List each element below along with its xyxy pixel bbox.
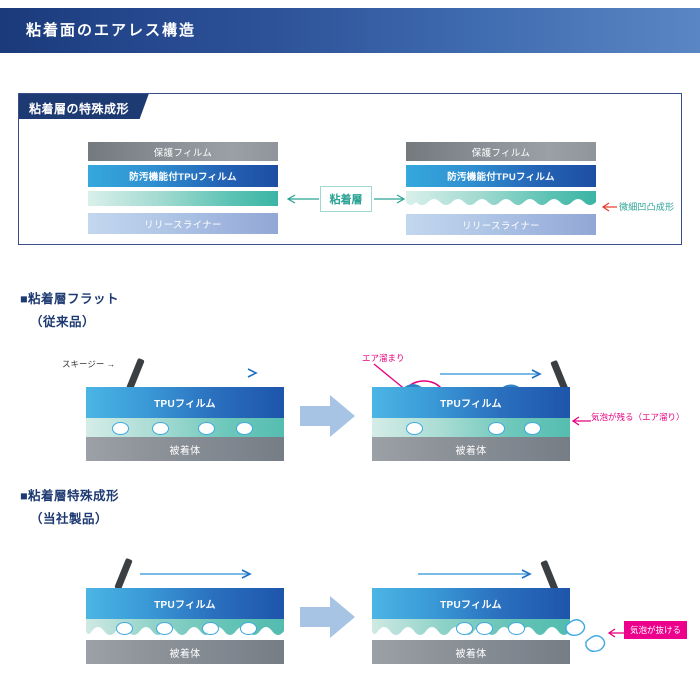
panel-tab-label: 粘着層の特殊成形: [29, 100, 129, 117]
process-arrow-1-icon: [300, 393, 356, 439]
layer-label: 保護フィルム: [154, 145, 212, 159]
layer-label: リリースライナー: [144, 217, 222, 231]
layer-tpu-film: 防汚機能付TPUフィルム: [406, 165, 596, 187]
tpu-film-layer: TPUフィルム: [86, 588, 284, 619]
air-bubble: [524, 422, 541, 435]
layer-label: リリースライナー: [462, 218, 540, 232]
trapped-bubble-arrow-icon: [570, 416, 592, 426]
diagram-1-right-stack: TPUフィルム 被着体: [372, 387, 570, 461]
substrate-label: 被着体: [456, 442, 487, 457]
diagram-1-left-stack: TPUフィルム 被着体: [86, 387, 284, 461]
layer-label: 防汚機能付TPUフィルム: [447, 169, 555, 183]
squeegee-blade-icon: [126, 358, 144, 390]
panel-tab-notch-shape: [138, 94, 161, 119]
substrate-layer: 被着体: [86, 437, 284, 461]
micro-texture-arrow-icon: [600, 202, 618, 212]
air-bubble: [476, 622, 493, 635]
callout-arrow-left: [286, 192, 320, 206]
tpu-film-label: TPUフィルム: [154, 395, 216, 410]
section-1-subheading: （従来品）: [30, 311, 95, 330]
application-direction-arrow: [140, 568, 258, 580]
tpu-film-layer: TPUフィルム: [372, 588, 570, 619]
air-bubble: [508, 622, 525, 635]
escaping-bubble-arrow-icon: [606, 628, 626, 638]
air-bubble: [112, 422, 129, 435]
layer-gap: [88, 206, 278, 213]
layer-stack-textured: 保護フィルム 防汚機能付TPUフィルム リリースライナー: [406, 142, 596, 235]
substrate-label: 被着体: [170, 645, 201, 660]
air-bubble: [202, 622, 219, 635]
substrate-layer: 被着体: [372, 437, 570, 461]
layer-adhesive-flat: [88, 191, 278, 206]
tpu-film-layer: TPUフィルム: [372, 387, 570, 418]
application-direction-arrow: [418, 568, 538, 580]
substrate-layer: 被着体: [372, 640, 570, 664]
section-2-subheading: （当社製品）: [30, 508, 108, 527]
air-bubble: [456, 622, 473, 635]
callout-arrow-right: [374, 192, 406, 206]
air-bubble: [240, 622, 257, 635]
squeegee-blade-icon: [114, 558, 132, 590]
tpu-film-label: TPUフィルム: [440, 395, 502, 410]
tpu-film-label: TPUフィルム: [154, 596, 216, 611]
layer-label: 防汚機能付TPUフィルム: [129, 169, 237, 183]
air-bubble: [406, 422, 423, 435]
substrate-label: 被着体: [170, 442, 201, 457]
layer-adhesive-textured: [406, 191, 596, 213]
diagram-2-right-stack: TPUフィルム 被着体: [372, 588, 570, 662]
trapped-bubble-result-label: 気泡が残る（エア溜り）: [591, 411, 685, 423]
air-bubble: [152, 422, 169, 435]
substrate-label: 被着体: [456, 645, 487, 660]
section-1-heading: ■粘着層フラット: [20, 288, 119, 307]
process-arrow-2-icon: [300, 594, 356, 640]
layer-label: 保護フィルム: [472, 145, 530, 159]
air-bubble: [488, 422, 505, 435]
layer-protective-film: 保護フィルム: [406, 142, 596, 161]
application-direction-arrow: [152, 367, 262, 379]
layer-protective-film: 保護フィルム: [88, 142, 278, 161]
diagram-2-left-stack: TPUフィルム 被着体: [86, 588, 284, 662]
layer-release-liner: リリースライナー: [406, 214, 596, 235]
callout-label: 粘着層: [330, 191, 363, 207]
layer-tpu-film: 防汚機能付TPUフィルム: [88, 165, 278, 187]
bubble-escape-result-badge: 気泡が抜ける: [624, 621, 687, 639]
layer-stack-flat: 保護フィルム 防汚機能付TPUフィルム リリースライナー: [88, 142, 278, 234]
micro-texture-label: 微細凹凸成形: [619, 200, 674, 213]
substrate-layer: 被着体: [86, 640, 284, 664]
squeegee-label: スキージー →: [62, 358, 115, 370]
page-title: 粘着面のエアレス構造: [26, 19, 196, 40]
adhesive-layer-callout: 粘着層: [320, 186, 372, 212]
application-direction-arrow: [440, 368, 550, 380]
air-bubble: [236, 422, 253, 435]
air-bubble: [116, 622, 133, 635]
air-bubble: [198, 422, 215, 435]
tpu-film-layer: TPUフィルム: [86, 387, 284, 418]
layer-release-liner: リリースライナー: [88, 213, 278, 234]
air-bubble: [156, 622, 173, 635]
section-2-heading: ■粘着層特殊成形: [20, 485, 119, 504]
tpu-film-label: TPUフィルム: [440, 596, 502, 611]
